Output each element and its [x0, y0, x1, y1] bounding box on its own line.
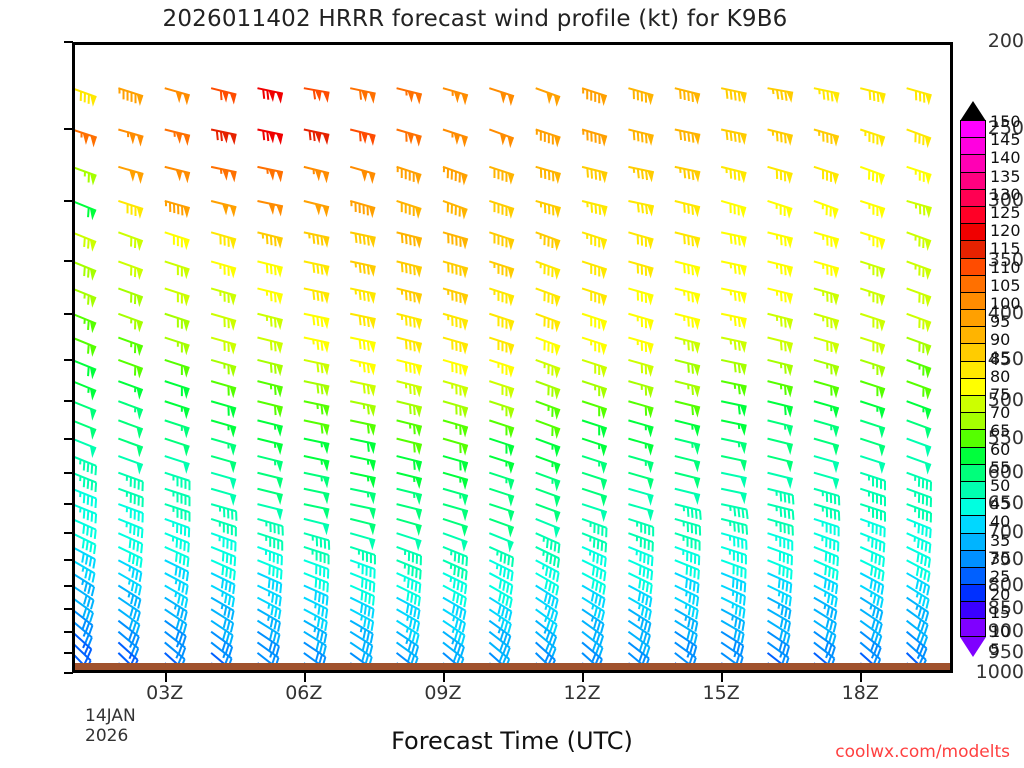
wind-barb [257, 473, 282, 489]
wind-barb [628, 360, 653, 377]
wind-barb [257, 88, 282, 104]
wind-barb [768, 314, 793, 330]
wind-barb [582, 456, 607, 474]
wind-barb [907, 232, 931, 251]
wind-barb [211, 456, 236, 473]
wind-barb [443, 167, 467, 186]
wind-barb [304, 473, 329, 489]
wind-barb [860, 261, 885, 279]
wind-barb [814, 261, 839, 278]
wind-barb [350, 401, 375, 417]
colorbar-cell[interactable] [960, 515, 986, 533]
colorbar-tick-label: 60 [990, 442, 1010, 458]
colorbar-cell[interactable] [960, 498, 986, 516]
wind-barb [118, 439, 142, 458]
wind-barb [814, 338, 839, 355]
colorbar[interactable] [960, 101, 986, 657]
colorbar-cell[interactable] [960, 429, 986, 447]
wind-barb [536, 473, 560, 492]
colorbar-cell[interactable] [960, 550, 986, 568]
x-tick-mark [721, 673, 723, 682]
wind-barb [75, 547, 95, 569]
wind-barb [165, 456, 190, 474]
wind-barb [397, 167, 422, 185]
colorbar-tick-label: 15 [990, 605, 1010, 621]
wind-barb [582, 381, 607, 399]
wind-barb [489, 314, 514, 332]
wind-barb [118, 360, 142, 379]
wind-barb [628, 338, 653, 355]
wind-barb [75, 88, 96, 107]
wind-barb [675, 504, 701, 520]
wind-barb [304, 439, 329, 455]
colorbar-cell[interactable] [960, 343, 986, 361]
colorbar-cell[interactable] [960, 292, 986, 310]
wind-barb [907, 129, 931, 148]
wind-barb [675, 401, 700, 417]
wind-barb [907, 88, 932, 105]
wind-barb [165, 201, 190, 218]
wind-barb [582, 129, 607, 146]
wind-barb [721, 360, 746, 376]
wind-barb [75, 504, 96, 523]
wind-barb [304, 314, 329, 330]
wind-barb [628, 129, 653, 145]
wind-barb [118, 261, 142, 280]
colorbar-cell[interactable] [960, 464, 986, 482]
colorbar-cell[interactable] [960, 240, 986, 258]
wind-barb [628, 314, 653, 331]
wind-barb [211, 420, 236, 437]
wind-barb [628, 88, 653, 105]
wind-barb [397, 473, 422, 489]
wind-barb [814, 473, 839, 490]
wind-barb [75, 560, 95, 582]
colorbar-tick-label: 125 [990, 205, 1021, 221]
colorbar-tick-label: 45 [990, 496, 1010, 512]
wind-barb [257, 129, 282, 145]
wind-barb [397, 381, 422, 397]
wind-barb [75, 314, 96, 333]
colorbar-tick-label: 30 [990, 551, 1010, 567]
page-title: 2026011402 HRRR forecast wind profile (k… [0, 6, 950, 32]
wind-barb [75, 288, 96, 307]
wind-barb [350, 338, 375, 354]
wind-barb [118, 489, 142, 507]
wind-barb [211, 314, 236, 331]
y-tick-label: 1000 [958, 663, 1024, 682]
wind-barb [443, 314, 468, 331]
wind-barb [814, 360, 839, 377]
wind-barb [536, 88, 560, 107]
wind-barb [675, 314, 700, 330]
wind-barb [118, 232, 142, 251]
wind-barb [721, 261, 746, 277]
wind-barb [489, 232, 514, 250]
wind-barb [628, 456, 653, 473]
wind-barb [75, 232, 96, 251]
wind-barb [75, 381, 96, 400]
wind-barb [907, 439, 931, 458]
colorbar-cell[interactable] [960, 378, 986, 396]
wind-barb [907, 381, 931, 400]
wind-barb [814, 456, 839, 473]
wind-barb [211, 401, 236, 418]
wind-barb [75, 573, 94, 596]
wind-barb [397, 338, 422, 354]
wind-barb [397, 232, 422, 248]
wind-barb [443, 232, 468, 249]
wind-barb [675, 381, 700, 397]
wind-barb [165, 88, 190, 105]
wind-barb [257, 504, 282, 520]
wind-barb [165, 261, 190, 279]
wind-barb [907, 201, 932, 218]
wind-barb [907, 456, 931, 475]
wind-barb [165, 360, 190, 378]
colorbar-cell[interactable] [960, 395, 986, 413]
wind-barb [768, 338, 793, 354]
wind-barb [211, 261, 236, 278]
wind-barb [304, 360, 329, 376]
wind-barb [75, 201, 96, 220]
wind-barb [489, 489, 514, 507]
wind-barb [75, 360, 96, 379]
wind-barb [165, 439, 190, 457]
wind-barb [211, 504, 236, 521]
wind-barb [257, 314, 282, 330]
wind-barb [536, 456, 560, 475]
colorbar-cell[interactable] [960, 275, 986, 293]
colorbar-tick-label: 20 [990, 587, 1010, 603]
wind-barb [118, 167, 143, 184]
wind-barb [75, 129, 97, 147]
wind-barb [860, 338, 885, 356]
wind-barb [304, 420, 329, 436]
colorbar-cell[interactable] [960, 172, 986, 190]
wind-barb [165, 401, 190, 419]
wind-barb [814, 167, 839, 185]
colorbar-tick-label: 130 [990, 187, 1021, 203]
wind-barb [350, 519, 375, 535]
wind-barb [118, 129, 143, 146]
wind-barb [257, 261, 282, 277]
wind-barb [675, 88, 700, 104]
wind-barb [165, 473, 190, 491]
wind-barb [165, 288, 190, 306]
wind-barb [211, 473, 236, 490]
colorbar-tick-label: 35 [990, 533, 1010, 549]
wind-barb [675, 456, 700, 472]
colorbar-cell[interactable] [960, 309, 986, 327]
colorbar-cell[interactable] [960, 567, 986, 585]
colorbar-tick-label: 70 [990, 405, 1010, 421]
wind-barb [675, 473, 700, 489]
wind-barb [536, 420, 560, 439]
x-tick-mark [165, 673, 167, 682]
wind-barb [165, 129, 190, 145]
wind-barb [118, 381, 142, 400]
wind-barb [165, 232, 190, 250]
wind-barb [489, 420, 514, 438]
wind-barb [907, 401, 931, 420]
wind-barb [536, 401, 560, 420]
wind-barb [860, 314, 885, 332]
colorbar-over-arrow [960, 101, 986, 121]
wind-barb [628, 288, 653, 305]
colorbar-cell[interactable] [960, 137, 986, 155]
wind-barb [675, 439, 700, 455]
wind-barb [907, 167, 932, 185]
wind-barb [721, 420, 746, 436]
wind-barb [489, 473, 514, 491]
wind-barb [489, 129, 513, 148]
wind-barb [397, 88, 422, 104]
wind-barb [397, 314, 422, 330]
wind-barb [907, 473, 931, 491]
colorbar-tick-label: 110 [990, 260, 1021, 276]
wind-barb [257, 338, 282, 354]
wind-barb [257, 288, 282, 304]
colorbar-cell[interactable] [960, 120, 986, 138]
wind-barb [350, 489, 375, 505]
colorbar-cell[interactable] [960, 154, 986, 172]
colorbar-cell[interactable] [960, 361, 986, 379]
wind-barb [721, 288, 746, 304]
colorbar-tick-label: 25 [990, 569, 1010, 585]
wind-barb [304, 288, 329, 304]
colorbar-cell[interactable] [960, 258, 986, 276]
wind-barb [536, 439, 560, 458]
wind-barb [768, 439, 793, 455]
wind-barb [489, 456, 514, 474]
wind-barb [257, 456, 282, 472]
wind-barb [211, 232, 236, 249]
wind-barb [257, 381, 282, 397]
colorbar-tick-label: 80 [990, 369, 1010, 385]
wind-barb [536, 129, 561, 147]
wind-barb [397, 439, 422, 455]
wind-barb [768, 381, 793, 397]
wind-barb [536, 338, 560, 357]
wind-barb [628, 489, 653, 506]
wind-barb [860, 167, 884, 186]
wind-barb [350, 261, 375, 277]
wind-barb [675, 519, 700, 536]
wind-barb [489, 261, 514, 279]
wind-barb [907, 338, 931, 357]
wind-barb [75, 401, 96, 420]
x-tick-mark [582, 673, 584, 682]
colorbar-tick-label: 50 [990, 478, 1010, 494]
wind-barb [628, 401, 653, 418]
colorbar-cell[interactable] [960, 481, 986, 499]
wind-barb [814, 504, 839, 521]
wind-barb [721, 439, 746, 455]
wind-barb [768, 201, 793, 219]
wind-barb [257, 167, 282, 183]
colorbar-cell[interactable] [960, 326, 986, 344]
wind-barb [118, 88, 143, 106]
colorbar-cell[interactable] [960, 223, 986, 241]
wind-barb [118, 420, 142, 439]
wind-barb [489, 167, 514, 185]
wind-barb [814, 489, 839, 506]
wind-barb [907, 288, 931, 307]
x-tick-label: 15Z [681, 682, 761, 704]
wind-barb [768, 519, 793, 536]
colorbar-tick-label: 140 [990, 150, 1021, 166]
colorbar-tick-label: 105 [990, 278, 1021, 294]
wind-barb [489, 338, 514, 356]
wind-barb [397, 504, 422, 520]
colorbar-tick-label: 55 [990, 460, 1010, 476]
wind-barb [768, 420, 793, 436]
wind-barb [118, 456, 142, 475]
wind-barb [211, 167, 236, 183]
wind-barb [350, 232, 375, 248]
colorbar-tick-label: 90 [990, 332, 1010, 348]
x-tick-label: 12Z [542, 682, 622, 704]
colorbar-tick-label: 10 [990, 624, 1010, 640]
wind-barb [582, 232, 607, 250]
wind-barb [165, 314, 190, 332]
wind-barb [397, 129, 422, 146]
colorbar-cell[interactable] [960, 189, 986, 207]
colorbar-cell[interactable] [960, 584, 986, 602]
wind-barb [118, 201, 143, 219]
wind-barb [675, 360, 700, 376]
wind-barb [257, 360, 282, 376]
wind-barb [165, 420, 190, 438]
wind-barb [814, 420, 839, 437]
wind-barb [304, 489, 329, 505]
wind-barb [443, 489, 468, 506]
wind-barb [304, 456, 329, 472]
wind-barb [304, 381, 329, 397]
wind-barb [675, 129, 700, 145]
wind-barb [582, 261, 607, 279]
wind-barb [536, 167, 561, 184]
wind-barb [768, 232, 793, 248]
wind-barb [768, 360, 793, 376]
wind-barb [118, 288, 142, 307]
colorbar-cell[interactable] [960, 206, 986, 224]
wind-barb [443, 338, 468, 355]
wind-barb [582, 360, 607, 378]
colorbar-tick-label: 5 [990, 642, 1000, 658]
wind-barb [814, 288, 839, 305]
wind-barb [536, 261, 560, 280]
wind-barb [814, 201, 838, 220]
wind-barb [350, 381, 375, 397]
wind-barb [907, 420, 931, 439]
wind-barb [350, 439, 375, 455]
wind-barb [860, 473, 885, 491]
wind-barb [75, 420, 96, 439]
wind-barb [397, 420, 422, 436]
wind-barb [582, 167, 607, 183]
wind-barb [721, 129, 746, 145]
colorbar-cell[interactable] [960, 533, 986, 551]
wind-barb [582, 88, 607, 106]
wind-barb [860, 288, 885, 306]
wind-barb [397, 456, 422, 472]
x-tick-label: 03Z [125, 682, 205, 704]
wind-barb [443, 420, 468, 437]
wind-barb [443, 381, 468, 398]
wind-barb [350, 314, 375, 330]
colorbar-cell[interactable] [960, 601, 986, 619]
colorbar-cell[interactable] [960, 447, 986, 465]
wind-barb [304, 261, 329, 277]
wind-barb [768, 456, 793, 472]
wind-barb [211, 338, 236, 355]
wind-barb [675, 338, 700, 354]
wind-barb [211, 129, 236, 145]
wind-barb [443, 504, 468, 521]
wind-barb [350, 88, 375, 104]
wind-barb [768, 167, 793, 184]
wind-barb [536, 314, 560, 333]
wind-barb [304, 338, 329, 354]
wind-barb [675, 420, 700, 436]
x-tick-mark [443, 673, 445, 682]
wind-barb [675, 489, 700, 505]
wind-barb [675, 232, 700, 248]
colorbar-under-arrow [960, 637, 986, 657]
wind-barb [397, 201, 422, 219]
wind-barb [350, 504, 375, 520]
colorbar-cell[interactable] [960, 412, 986, 430]
wind-barb [582, 401, 607, 419]
wind-barb [211, 489, 236, 506]
wind-barb [304, 232, 329, 248]
colorbar-tick-label: 115 [990, 241, 1021, 257]
colorbar-tick-label: 145 [990, 132, 1021, 148]
wind-barb [350, 473, 375, 489]
wind-barb [768, 129, 793, 145]
wind-barb [489, 360, 514, 378]
wind-barb [397, 360, 422, 376]
wind-barb [304, 201, 329, 217]
wind-barb [211, 439, 236, 456]
wind-barb [350, 129, 375, 145]
wind-barb [628, 420, 653, 437]
wind-barb [75, 167, 96, 186]
wind-barb [304, 504, 329, 520]
wind-barb [257, 232, 282, 248]
date-line: 14JAN [85, 706, 136, 726]
wind-barb [165, 167, 190, 183]
wind-barb [165, 381, 190, 399]
wind-barb [443, 401, 468, 418]
x-tick-mark [860, 673, 862, 682]
wind-barb [165, 489, 190, 507]
wind-barb [814, 314, 839, 331]
wind-barb [257, 420, 282, 436]
wind-barb [721, 456, 746, 472]
colorbar-cell[interactable] [960, 618, 986, 636]
wind-barb [860, 401, 885, 419]
colorbar-tick-label: 100 [990, 296, 1021, 312]
wind-barb [768, 504, 794, 520]
x-tick-label: 09Z [403, 682, 483, 704]
wind-barb [860, 381, 885, 399]
wind-barb [489, 439, 514, 457]
wind-barb [75, 338, 96, 357]
wind-barb [443, 129, 468, 147]
